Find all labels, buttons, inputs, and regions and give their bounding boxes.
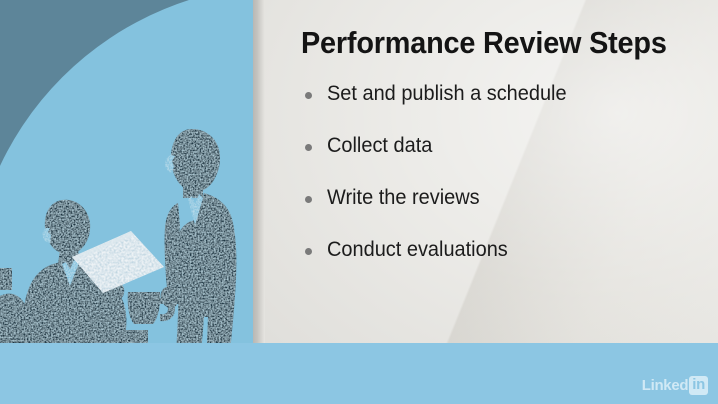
bullet-item: Conduct evaluations <box>305 238 705 290</box>
bullet-item: Set and publish a schedule <box>305 82 705 134</box>
bullet-dot-icon <box>305 92 312 99</box>
bullet-item: Collect data <box>305 134 705 186</box>
linkedin-in-text: in <box>692 376 705 393</box>
slide-title: Performance Review Steps <box>301 25 667 62</box>
bullet-dot-icon <box>305 196 312 203</box>
bottom-bar <box>0 343 718 404</box>
bullet-dot-icon <box>305 248 312 255</box>
linkedin-wordmark: Linked <box>642 378 689 393</box>
bullet-label: Collect data <box>327 134 432 159</box>
bullet-dot-icon <box>305 144 312 151</box>
bullet-label: Write the reviews <box>327 186 480 211</box>
bullet-item: Write the reviews <box>305 186 705 238</box>
bullet-label: Conduct evaluations <box>327 238 508 263</box>
bullet-list: Set and publish a schedule Collect data … <box>305 82 705 290</box>
linkedin-logo-watermark: Linked in <box>642 376 708 395</box>
presentation-slide: Performance Review Steps Set and publish… <box>0 0 718 404</box>
linkedin-in-badge-icon: in <box>689 376 708 395</box>
bullet-label: Set and publish a schedule <box>327 82 567 107</box>
